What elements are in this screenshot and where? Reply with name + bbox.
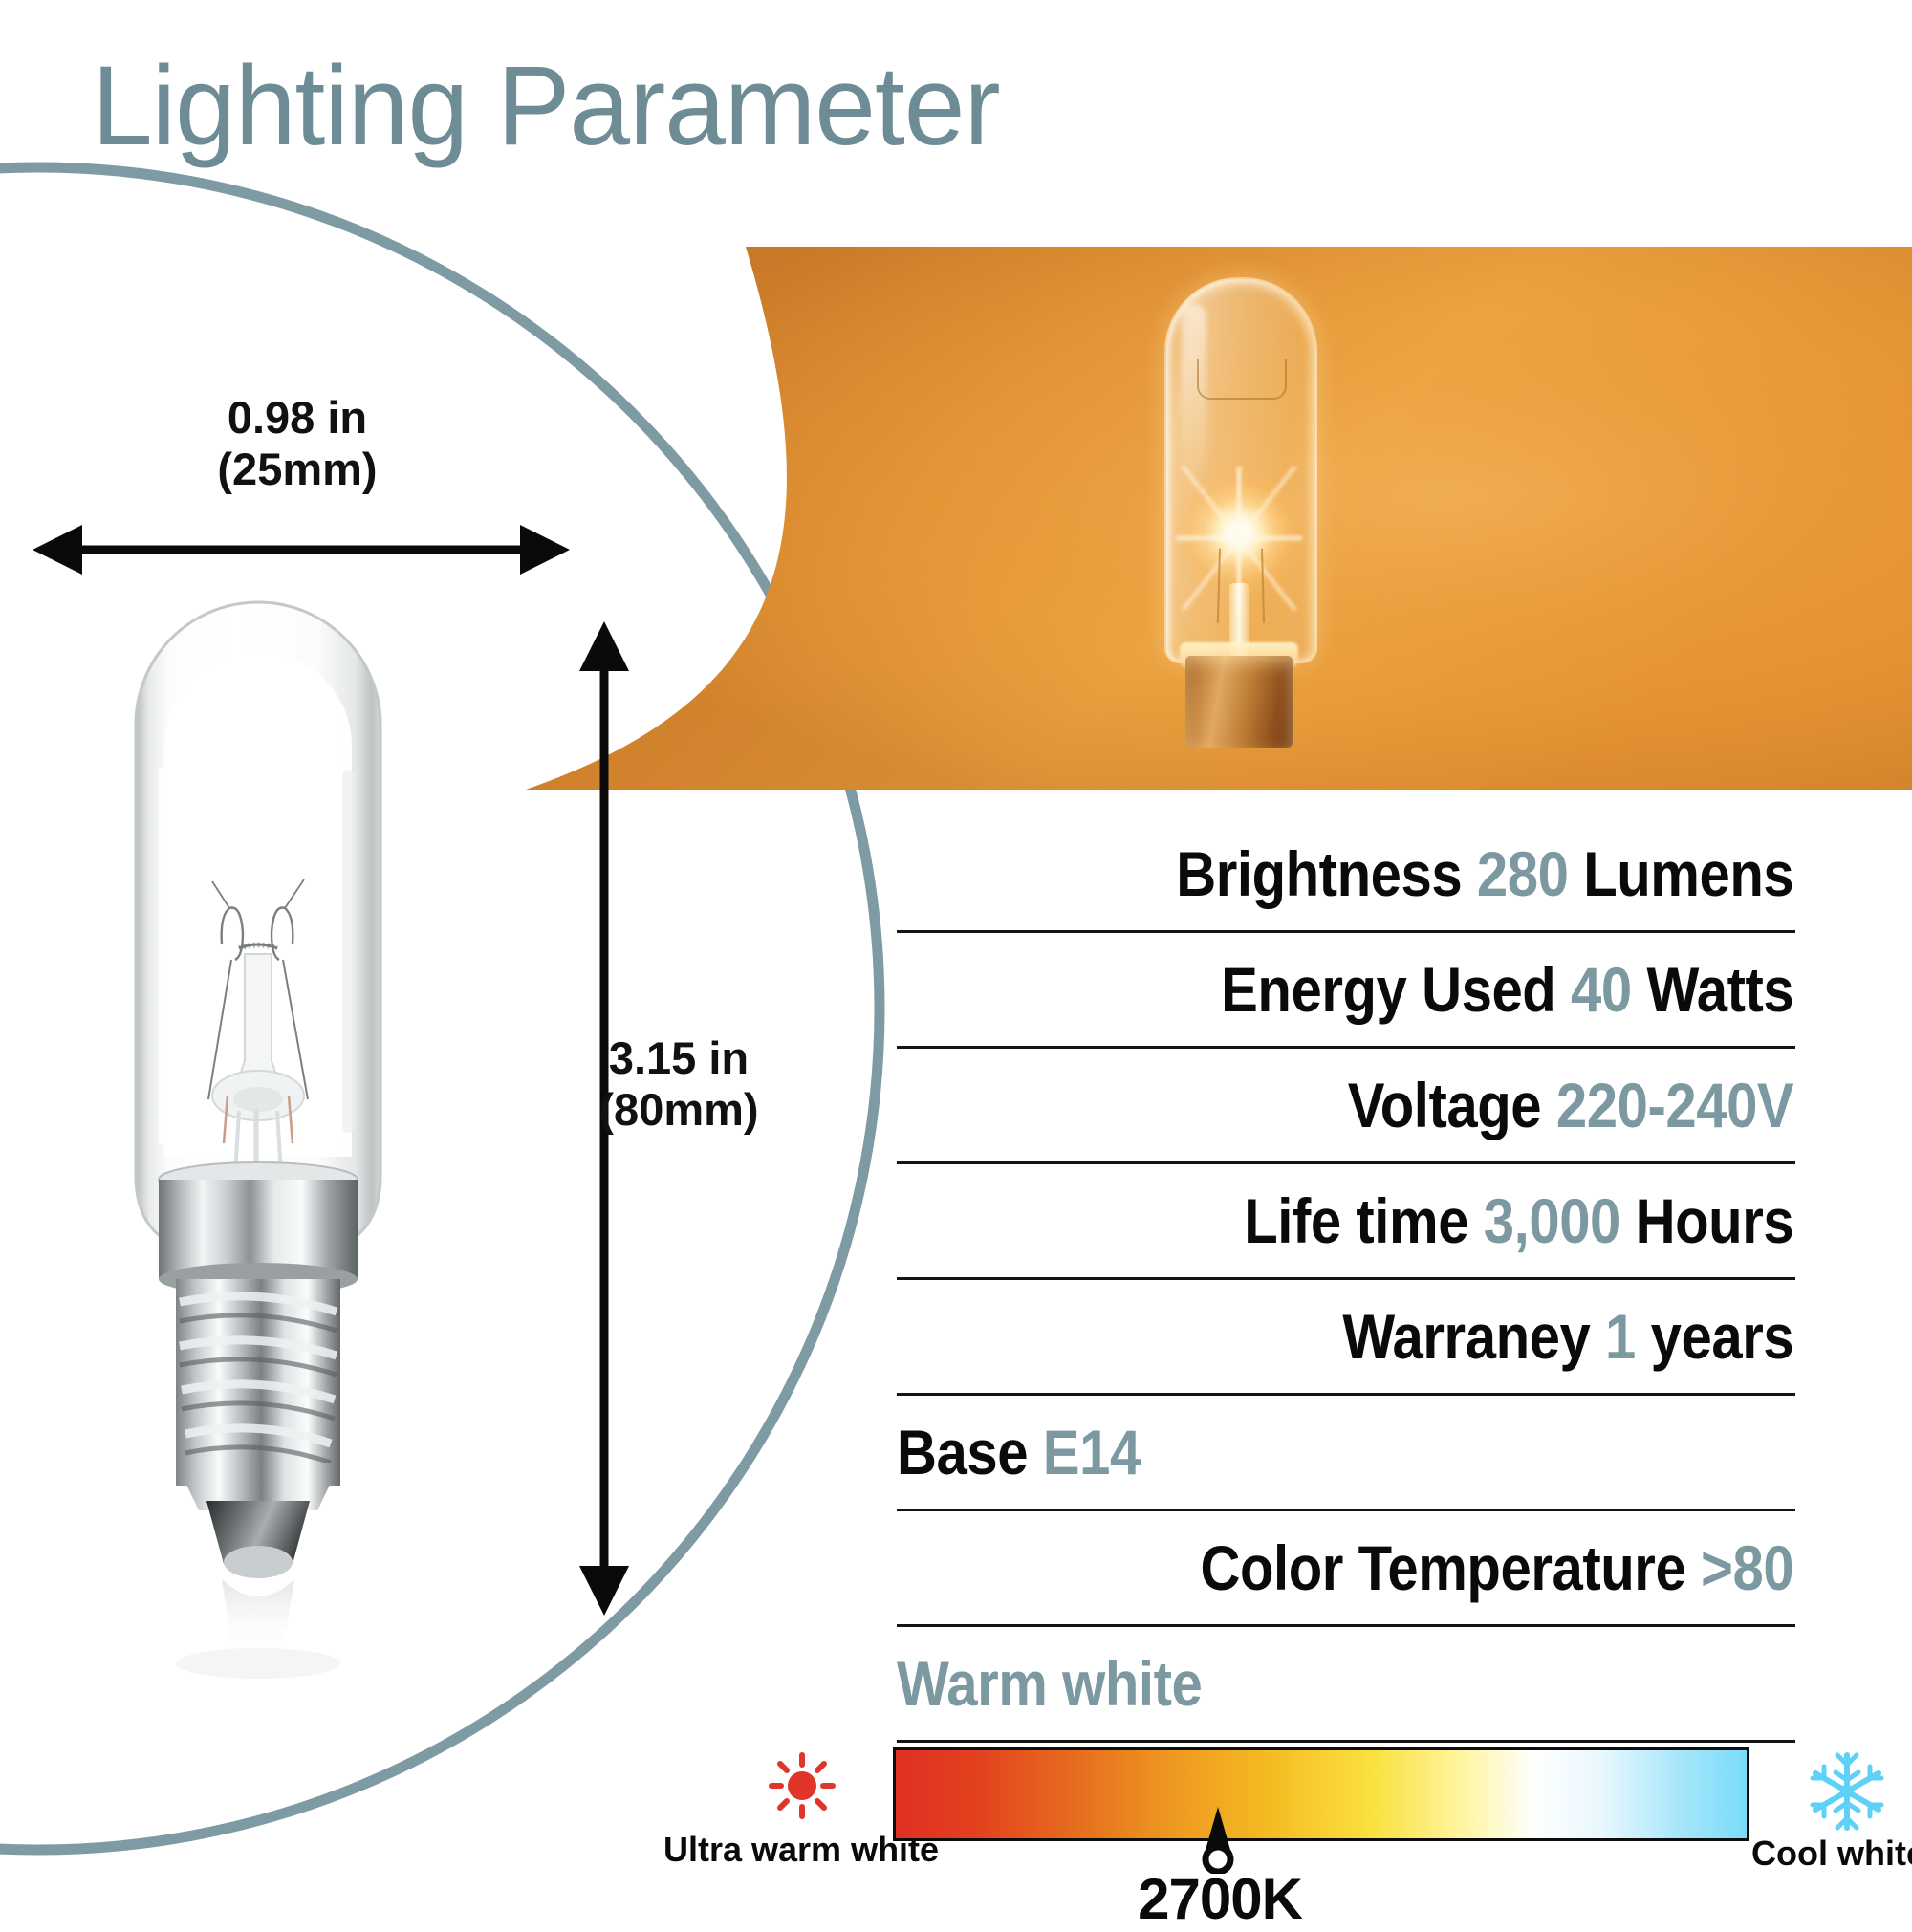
lit-bulb-base <box>1185 656 1293 748</box>
spec-row-energy-used: Energy Used 40 Watts <box>897 933 1795 1049</box>
height-dimension-label: 3.15 in (80mm) <box>535 1032 822 1135</box>
temperature-marker-pin <box>1196 1807 1240 1874</box>
snowflake-icon <box>1803 1747 1891 1835</box>
spec-text-voltage: Voltage 220-240V <box>1005 1069 1795 1141</box>
temperature-marker-value: 2700K <box>1124 1866 1315 1932</box>
spec-row-voltage: Voltage 220-240V <box>897 1049 1795 1164</box>
page-title: Lighting Parameter <box>92 50 1000 163</box>
lit-bulb-support-wire <box>1197 359 1287 400</box>
spec-text-warranty: Warraney 1 years <box>1005 1300 1795 1373</box>
spec-text-base: Base E14 <box>897 1416 1687 1488</box>
bulb-illustration <box>96 564 497 1721</box>
spec-row-base: Base E14 <box>897 1396 1795 1511</box>
lit-bulb-photo-subject <box>1138 268 1338 746</box>
spec-text-color-temperature: Color Temperature >80 <box>1005 1531 1795 1604</box>
spec-text-life-time: Life time 3,000 Hours <box>1005 1184 1795 1257</box>
width-dimension-label: 0.98 in (25mm) <box>92 392 503 494</box>
product-photo <box>382 247 1912 790</box>
spec-row-color-temperature: Color Temperature >80 <box>897 1511 1795 1627</box>
spec-text-energy-used: Energy Used 40 Watts <box>1005 953 1795 1026</box>
spec-row-life-time: Life time 3,000 Hours <box>897 1164 1795 1280</box>
color-temperature-scale: Ultra warm white 2700K <box>669 1746 1912 1912</box>
specifications-list: Brightness 280 Lumens Energy Used 40 Wat… <box>897 817 1795 1743</box>
spec-row-warm-white: Warm white <box>897 1627 1795 1743</box>
spec-text-warm-white: Warm white <box>897 1647 1687 1720</box>
bulb-screw-threads <box>176 1279 340 1510</box>
spec-text-brightness: Brightness 280 Lumens <box>1005 837 1795 910</box>
temperature-gradient-bar <box>893 1747 1749 1841</box>
infographic-canvas: Lighting Parameter <box>0 0 1912 1912</box>
spec-row-brightness: Brightness 280 Lumens <box>897 817 1795 933</box>
sun-icon <box>761 1749 843 1832</box>
spec-row-warranty: Warraney 1 years <box>897 1280 1795 1396</box>
scale-label-cool-white: Cool white <box>1751 1834 1912 1874</box>
